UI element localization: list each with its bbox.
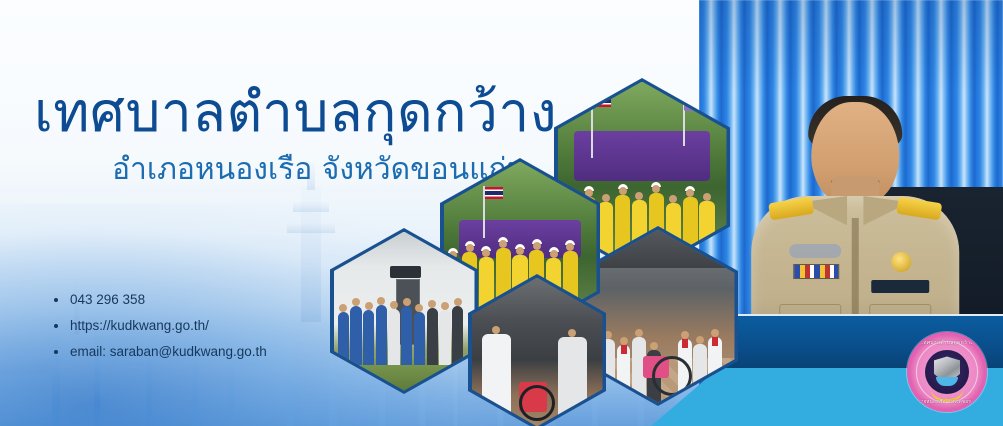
person	[452, 306, 463, 365]
person-helper-right	[558, 337, 587, 417]
cap-icon	[549, 247, 559, 252]
cap-icon	[565, 240, 575, 245]
person	[388, 309, 399, 365]
person	[439, 310, 450, 365]
contact-phone: 043 296 358	[52, 292, 267, 307]
person-helper-left	[482, 334, 511, 417]
cap-icon	[481, 246, 491, 251]
cap-icon	[498, 237, 508, 242]
cap-icon	[618, 184, 628, 189]
contact-email-text[interactable]: email: saraban@kudkwang.go.th	[70, 344, 267, 359]
person	[401, 306, 412, 365]
cap-icon	[651, 182, 661, 187]
flag-pole-2	[683, 89, 685, 146]
seal-top-text: เทศบาลตำบลกุดกว้าง	[909, 339, 985, 347]
crowd	[334, 298, 475, 365]
person	[350, 306, 361, 365]
contact-phone-text: 043 296 358	[70, 292, 145, 307]
person	[414, 312, 425, 365]
purple-stage-backdrop	[574, 131, 709, 181]
person	[427, 308, 438, 365]
cap-icon	[465, 241, 475, 246]
contact-website-text[interactable]: https://kudkwang.go.th/	[70, 318, 209, 333]
person	[363, 310, 374, 365]
photo-collage	[330, 78, 740, 408]
cap-icon	[448, 248, 458, 253]
wheelchair-wheel	[519, 385, 555, 421]
thai-flag-icon	[485, 187, 503, 199]
municipality-banner: เทศบาลตำบลกุดกว้าง อำเภอหนองเรือ จังหวัด…	[0, 0, 1003, 426]
thai-flag-icon	[593, 95, 611, 107]
person	[617, 345, 631, 402]
municipality-seal: เทศบาลตำบลกุดกว้าง อำเภอหนองเรือ จังหวัด…	[907, 332, 987, 412]
wheelchair-wheel	[652, 356, 692, 396]
cap-icon	[584, 186, 594, 191]
purple-flag-icon	[684, 91, 698, 111]
contact-website[interactable]: https://kudkwang.go.th/	[52, 318, 267, 333]
contact-list: 043 296 358 https://kudkwang.go.th/ emai…	[52, 292, 267, 370]
person	[376, 305, 387, 365]
person	[693, 344, 707, 403]
cap-icon	[532, 239, 542, 244]
building-sign	[390, 266, 421, 277]
cap-icon	[685, 186, 695, 191]
seal-bottom-text: อำเภอหนองเรือ จังหวัดขอนแก่น	[909, 399, 985, 406]
flag-pole	[591, 93, 593, 158]
person	[708, 337, 722, 402]
contact-email[interactable]: email: saraban@kudkwang.go.th	[52, 344, 267, 359]
cap-icon	[515, 244, 525, 249]
person	[338, 312, 349, 365]
